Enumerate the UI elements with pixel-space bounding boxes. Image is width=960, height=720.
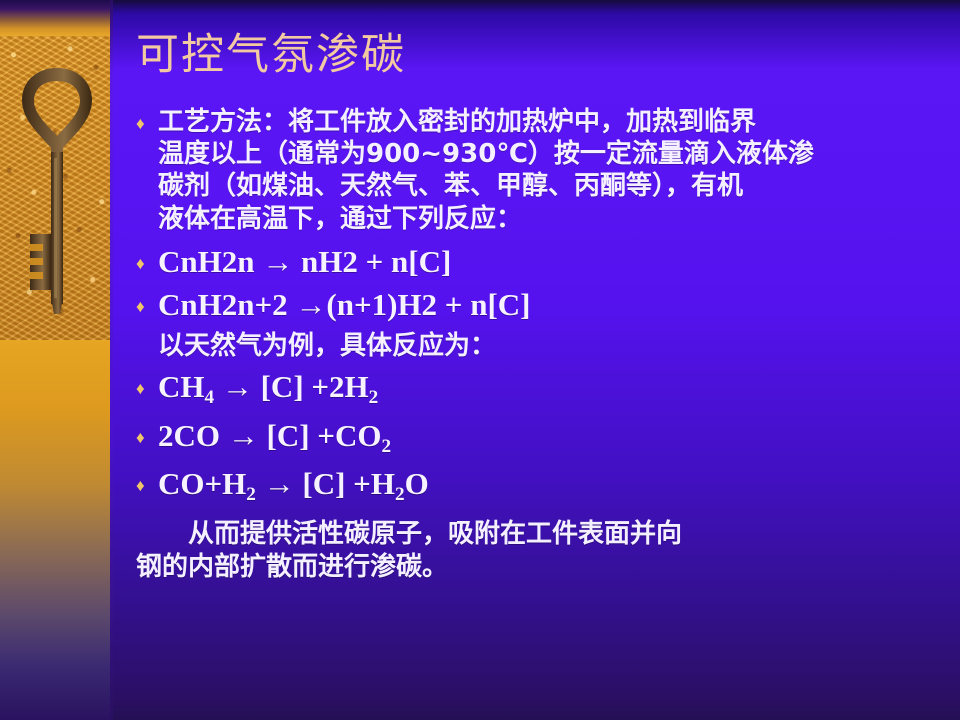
- sidebar-gold-to-purple-gradient: [0, 340, 113, 720]
- slide: 可控气氛渗碳 ♦ 工艺方法：将工件放入密封的加热炉中，加热到临界 温度以上（通常…: [0, 0, 960, 720]
- antique-key-icon: [18, 62, 96, 322]
- slide-body: ♦ 工艺方法：将工件放入密封的加热炉中，加热到临界 温度以上（通常为900~93…: [136, 106, 946, 584]
- diamond-bullet-icon: ♦: [136, 115, 158, 132]
- diamond-bullet-icon: ♦: [136, 477, 158, 494]
- equation-methane: CH4 → [C] +2H2: [158, 369, 378, 409]
- diamond-bullet-icon: ♦: [136, 255, 158, 272]
- sidebar-top-fade: [0, 0, 113, 36]
- diamond-bullet-icon: ♦: [136, 429, 158, 446]
- list-item: ♦ CH4 → [C] +2H2: [136, 369, 946, 409]
- list-item: ♦ CnH2n+2 →(n+1)H2 + n[C]: [136, 287, 946, 323]
- equation-alkene-cracking: CnH2n → nH2 + n[C]: [158, 244, 451, 280]
- list-item: ♦ 工艺方法：将工件放入密封的加热炉中，加热到临界 温度以上（通常为900~93…: [136, 106, 946, 235]
- sidebar-edge-line: [110, 0, 113, 720]
- natural-gas-example-label: 以天然气为例，具体反应为：: [158, 330, 496, 362]
- equation-alkane-cracking: CnH2n+2 →(n+1)H2 + n[C]: [158, 287, 531, 323]
- list-item: ♦ CnH2n → nH2 + n[C]: [136, 244, 946, 280]
- equation-water-gas: CO+H2 → [C] +H2O: [158, 466, 429, 506]
- equation-carbon-monoxide: 2CO → [C] +CO2: [158, 418, 391, 458]
- diamond-bullet-icon: ♦: [136, 380, 158, 397]
- sidebar-decoration: [0, 0, 113, 720]
- diamond-bullet-icon: ♦: [136, 298, 158, 315]
- list-item: ♦ 2CO → [C] +CO2: [136, 418, 946, 458]
- list-item: 以天然气为例，具体反应为：: [136, 330, 946, 362]
- process-method-paragraph: 工艺方法：将工件放入密封的加热炉中，加热到临界 温度以上（通常为900~930℃…: [158, 106, 814, 235]
- page-title: 可控气氛渗碳: [136, 33, 406, 78]
- conclusion-paragraph: 从而提供活性碳原子，吸附在工件表面并向 钢的内部扩散而进行渗碳。: [136, 518, 946, 584]
- list-item: ♦ CO+H2 → [C] +H2O: [136, 466, 946, 506]
